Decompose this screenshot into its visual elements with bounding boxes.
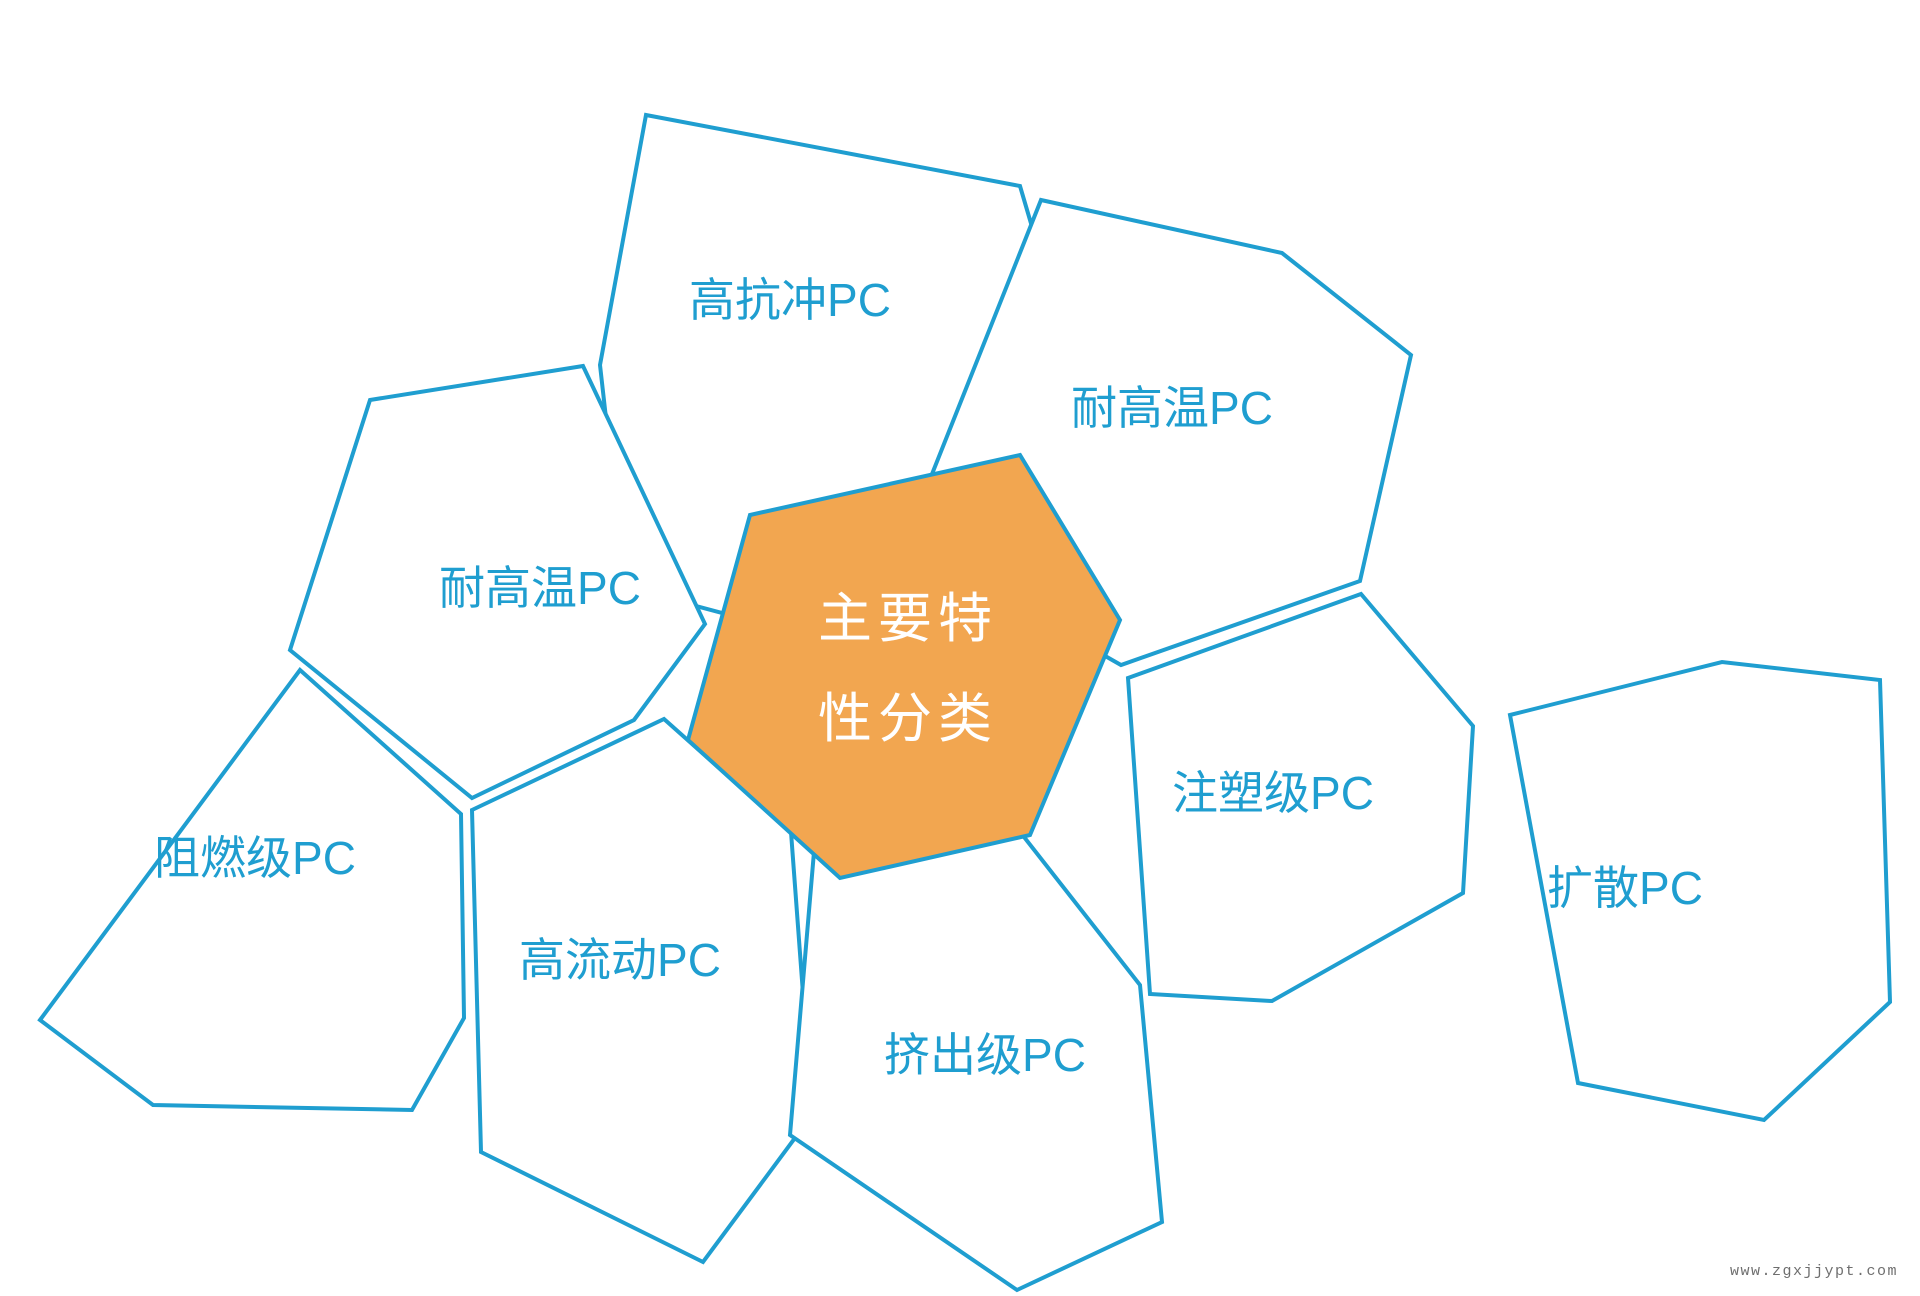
diagram-canvas: 高抗冲PC 耐高温PC 耐高温PC 阻燃级PC 高流动PC 挤出级PC 注塑级P… bbox=[0, 0, 1920, 1296]
center-label-line2: 性分类 bbox=[818, 670, 998, 770]
watermark-text: www.zgxjjypt.com bbox=[1730, 1263, 1898, 1280]
center-hexagon-label: 主要特 性分类 bbox=[818, 570, 998, 770]
hexagon-shape-diffusion[interactable] bbox=[1510, 662, 1890, 1120]
center-label-line1: 主要特 bbox=[818, 570, 998, 670]
hexagon-shape-injection-grade[interactable] bbox=[1128, 594, 1473, 1001]
hexagon-shape-extrusion-grade[interactable] bbox=[790, 814, 1162, 1290]
